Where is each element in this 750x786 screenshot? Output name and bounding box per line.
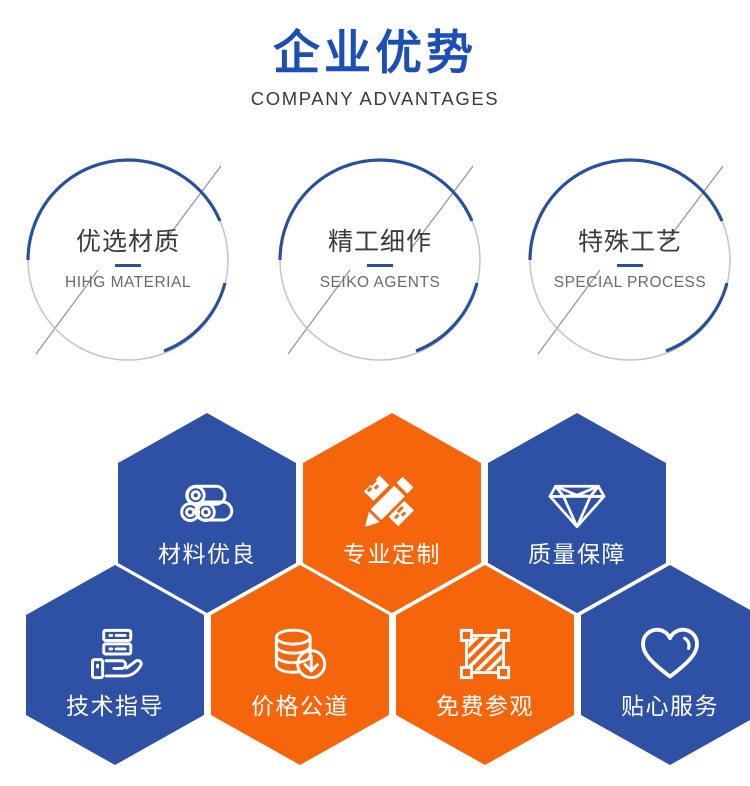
advantage-circle-1-label-en: SEIKO AGENTS — [320, 274, 441, 292]
pencil-ruler-icon — [356, 466, 428, 538]
advantage-circle-1-label-cn: 精工细作 — [328, 228, 432, 256]
advantage-circle-2[interactable]: 特殊工艺 SPECIAL PROCESS — [530, 160, 730, 360]
page-title-cn: 企业优势 — [0, 26, 750, 81]
hexagon-label: 专业定制 — [343, 544, 441, 567]
page-title-en: COMPANY ADVANTAGES — [0, 88, 750, 110]
advantage-circles: 优选材质 HIHG MATERIAL 精工细作 SEIKO AGENTS — [0, 160, 750, 380]
advantage-circle-0-label-en: HIHG MATERIAL — [65, 274, 191, 292]
advantage-circle-0-text: 优选材质 HIHG MATERIAL — [28, 160, 228, 360]
pipe-rolls-icon — [171, 466, 243, 538]
page-header: 企业优势 COMPANY ADVANTAGES — [0, 26, 750, 110]
advantage-circle-0[interactable]: 优选材质 HIHG MATERIAL — [28, 160, 228, 360]
advantage-circle-1-text: 精工细作 SEIKO AGENTS — [280, 160, 480, 360]
hexagon-label: 贴心服务 — [621, 696, 719, 719]
hexagon-label: 免费参观 — [436, 696, 534, 719]
advantage-hexagon-grid: 材料优良 — [0, 404, 750, 764]
advantage-circle-0-divider — [115, 264, 141, 267]
heart-icon — [634, 618, 706, 690]
selection-box-icon — [449, 618, 521, 690]
hexagon-label: 技术指导 — [66, 696, 164, 719]
hexagon-label: 材料优良 — [158, 544, 256, 567]
hand-server-icon — [79, 618, 151, 690]
company-advantages-page: 企业优势 COMPANY ADVANTAGES 优选材质 HIHG MATERI… — [0, 0, 750, 786]
advantage-circle-2-label-en: SPECIAL PROCESS — [554, 274, 707, 292]
diamond-icon — [541, 466, 613, 538]
advantage-circle-1-divider — [367, 264, 393, 267]
advantage-circle-2-text: 特殊工艺 SPECIAL PROCESS — [530, 160, 730, 360]
hexagon-label: 价格公道 — [251, 696, 349, 719]
advantage-circle-0-label-cn: 优选材质 — [76, 228, 180, 256]
coins-down-arrow-icon — [264, 618, 336, 690]
advantage-circle-1[interactable]: 精工细作 SEIKO AGENTS — [280, 160, 480, 360]
advantage-circle-2-divider — [617, 264, 643, 267]
hexagon-label: 质量保障 — [528, 544, 626, 567]
advantage-circle-2-label-cn: 特殊工艺 — [578, 228, 682, 256]
